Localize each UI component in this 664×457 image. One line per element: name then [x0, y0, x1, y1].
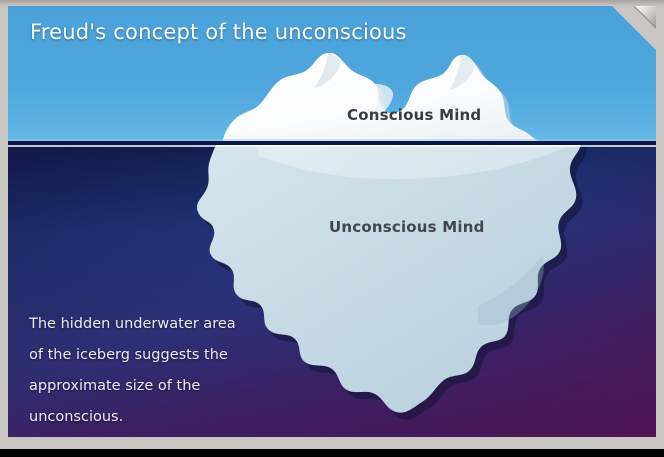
- iceberg-illustration: Freud's concept of the unconscious Consc…: [8, 6, 656, 437]
- caption-line-1: The hidden underwater area: [29, 309, 329, 340]
- page-title: Freud's concept of the unconscious: [30, 20, 407, 44]
- unconscious-mind-label: Unconscious Mind: [329, 218, 485, 236]
- figure-frame: Freud's concept of the unconscious Consc…: [0, 0, 664, 457]
- conscious-mind-label: Conscious Mind: [347, 106, 481, 124]
- waterline-icon: [8, 141, 656, 145]
- caption: The hidden underwater area of the iceber…: [29, 309, 329, 433]
- caption-line-3: approximate size of the: [29, 371, 329, 402]
- caption-line-2: of the iceberg suggests the: [29, 340, 329, 371]
- caption-line-4: unconscious.: [29, 402, 329, 433]
